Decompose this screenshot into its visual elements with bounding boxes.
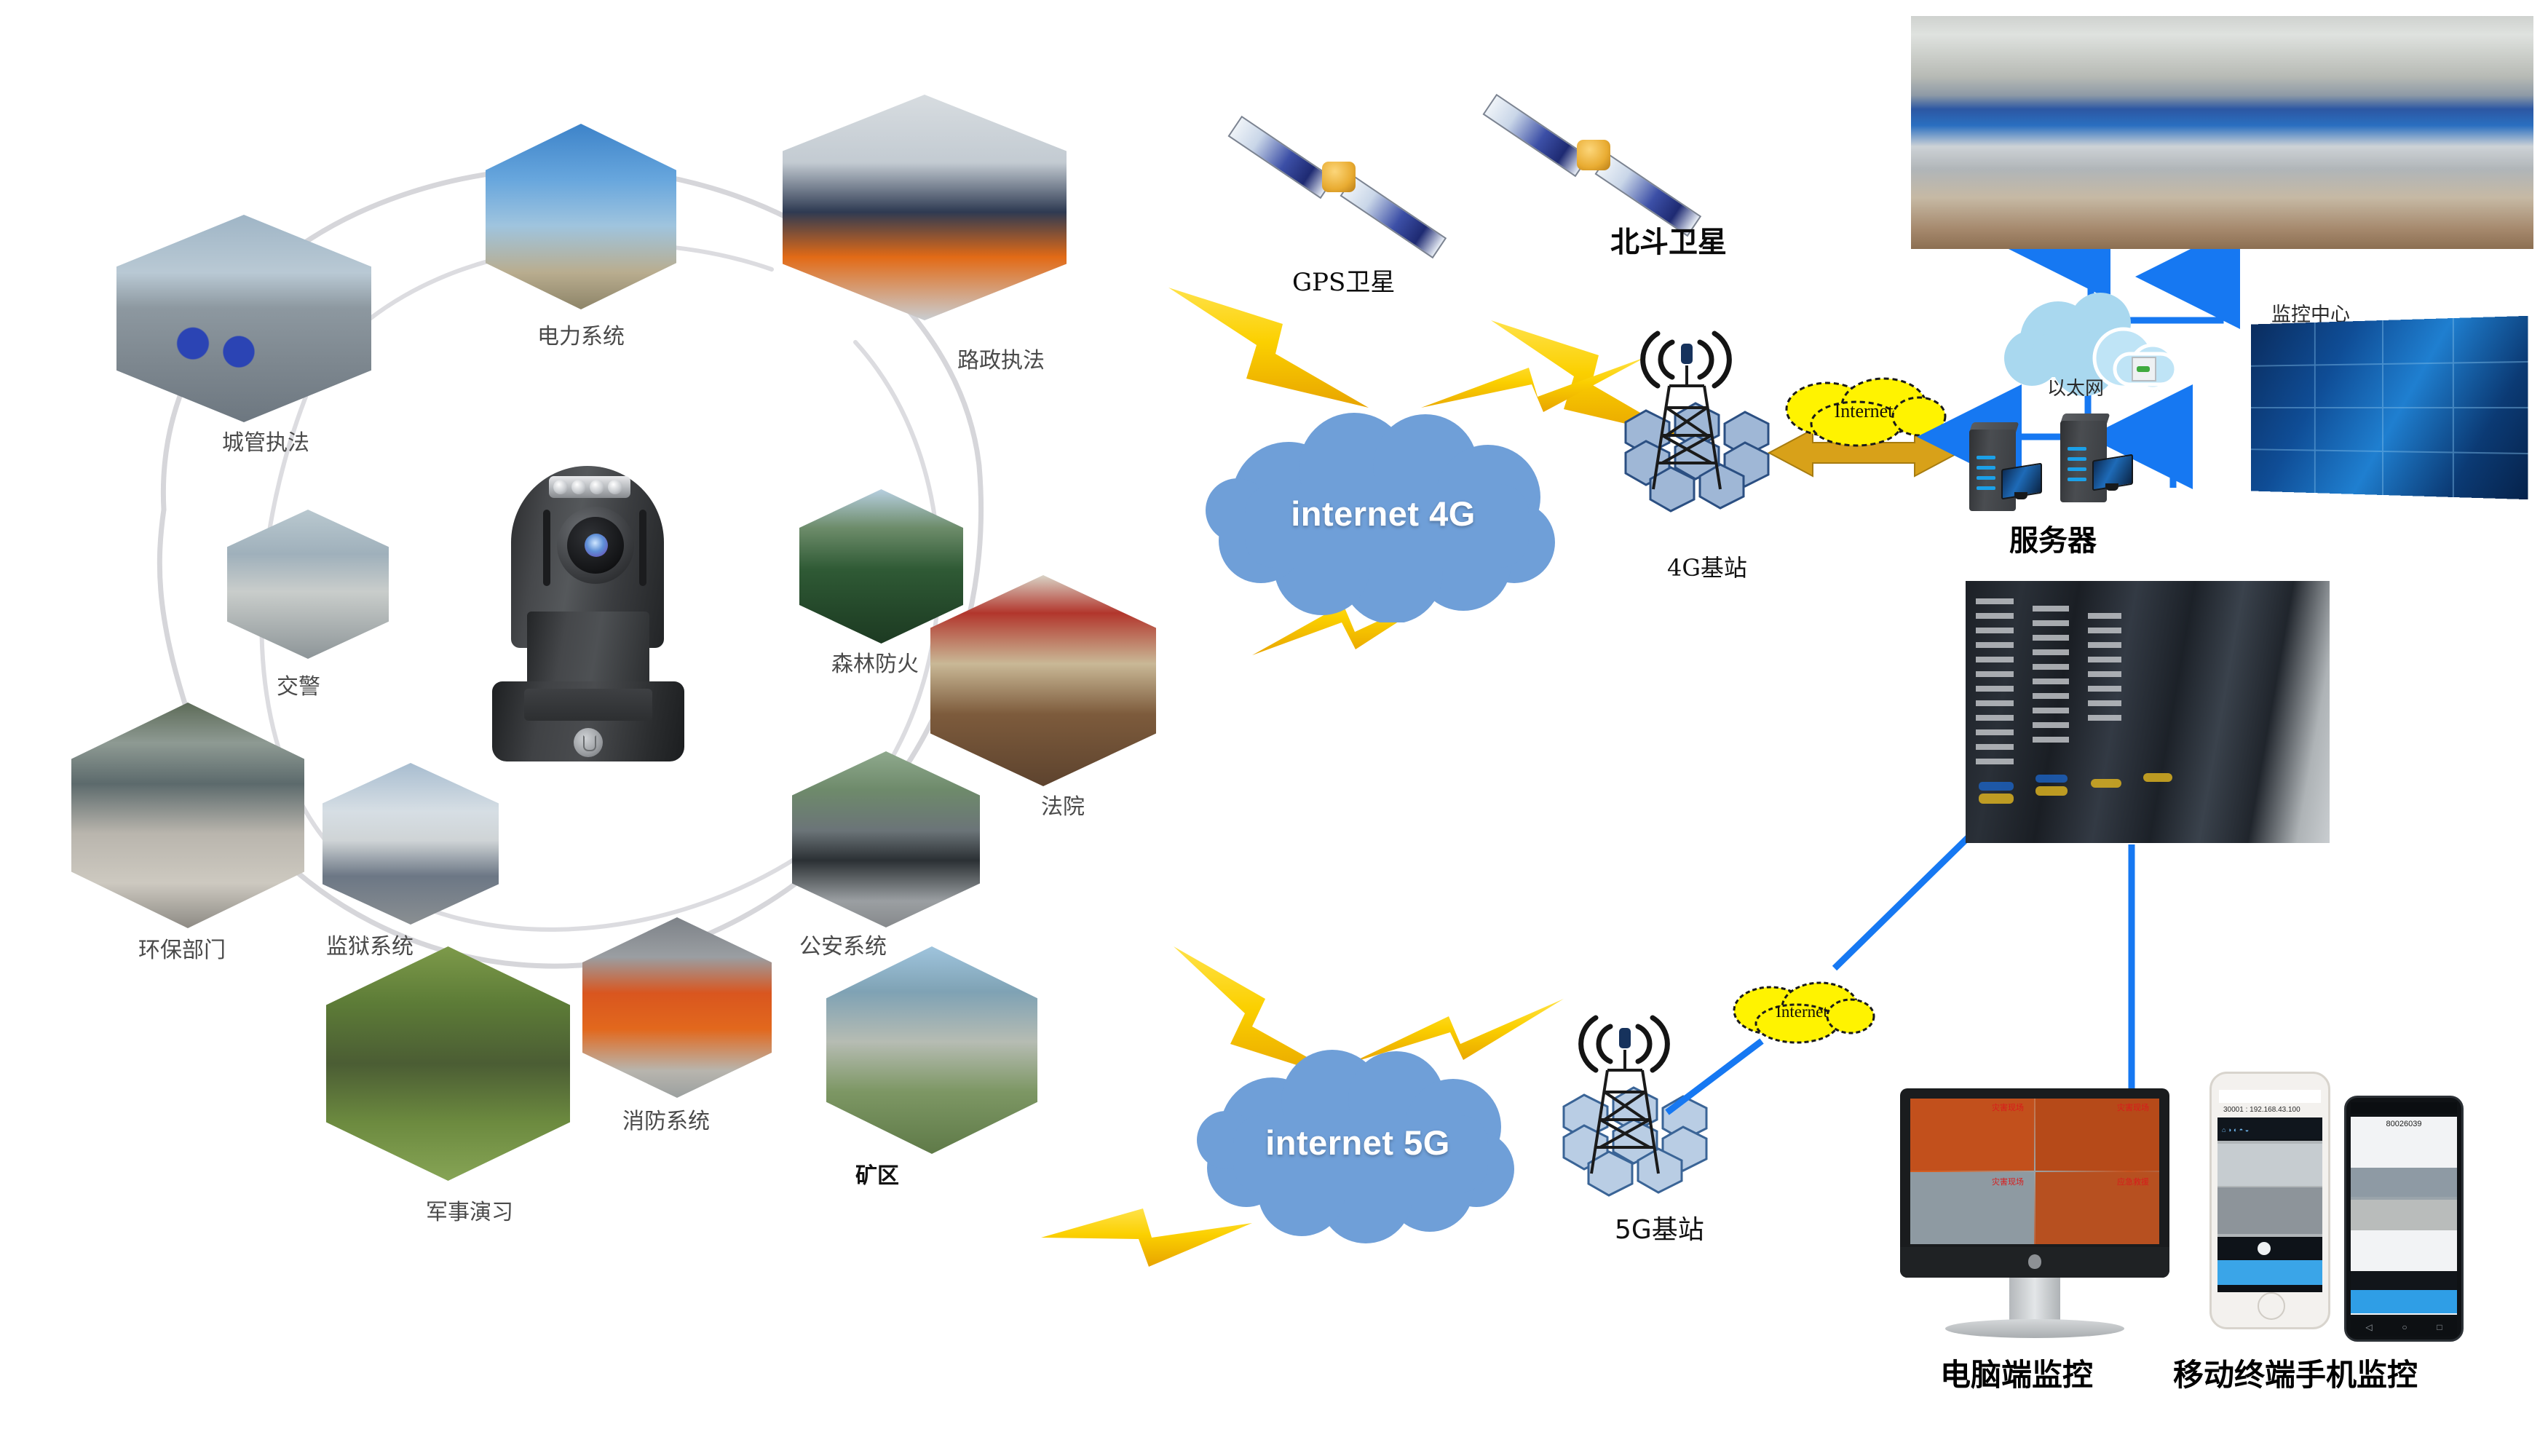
senlin-photo: [799, 489, 963, 644]
camera-lens-glow: [585, 534, 608, 557]
base-station-4g-label: 4G基站: [1667, 550, 1747, 583]
android-back-icon[interactable]: ◁: [2365, 1322, 2372, 1332]
server-2-led-4: [2068, 478, 2086, 481]
android-client[interactable]: 80026039 ◁ ○ □: [2344, 1096, 2464, 1342]
iphone-status-bar: [2219, 1090, 2321, 1103]
beidou-satellite: [1492, 80, 1696, 218]
beidou-satellite-label: 北斗卫星: [1610, 218, 1727, 261]
internet-bubble-bottom-label: Internet: [1725, 976, 1878, 1048]
server-2-monitor-stand: [2105, 483, 2118, 491]
scenario-label-jianyu: 监狱系统: [326, 928, 414, 960]
cloud-5g-label: internet 5G: [1187, 1041, 1529, 1243]
scenario-hex-jiaojing[interactable]: [227, 510, 389, 659]
server-label: 服务器: [2009, 517, 2097, 559]
scenario-label-fayuan: 法院: [1041, 788, 1085, 820]
internet-bubble-top-label: Internet: [1776, 371, 1951, 451]
scenario-hex-gongan[interactable]: [792, 751, 980, 927]
server-rack-photo: [1966, 581, 2330, 843]
pc-monitor-foot: [1945, 1319, 2124, 1338]
scenario-hex-luzheng[interactable]: [783, 95, 1067, 320]
chengguan-photo: [116, 215, 371, 422]
pc-monitor-screen: 灾害现场灾害现场 灾害现场应急救援: [1910, 1099, 2159, 1244]
iphone-home-button[interactable]: [2258, 1292, 2285, 1320]
svg-text:应急救援: 应急救援: [2117, 1176, 2149, 1187]
video-wall-photo: [2251, 316, 2528, 499]
server-1-led-1: [1977, 456, 1995, 459]
scenario-label-senlin: 森林防火: [831, 646, 919, 678]
control-room-photo: [1911, 16, 2533, 249]
pc-client-label: 电脑端监控: [1940, 1350, 2093, 1395]
switch-icon: [2132, 357, 2156, 381]
android-nav-bar[interactable]: ◁ ○ □: [2351, 1318, 2457, 1337]
scenario-label-jiaojing: 交警: [277, 668, 320, 700]
camera-notch-right: [639, 510, 646, 586]
internet-bubble-bottom[interactable]: Internet: [1725, 976, 1878, 1048]
camera-led-strip: [549, 476, 630, 498]
kuangqu-photo: [826, 946, 1037, 1154]
scenario-hex-fayuan[interactable]: [930, 575, 1156, 786]
cloud-internet-4g[interactable]: internet 4G: [1194, 404, 1572, 622]
scenario-label-xiaofang: 消防系统: [622, 1103, 710, 1135]
pc-monitor[interactable]: 灾害现场灾害现场 灾害现场应急救援: [1900, 1088, 2169, 1278]
server-1-monitor-stand: [2014, 492, 2027, 499]
junshi-photo: [326, 946, 570, 1181]
beidou-satellite-body: [1577, 140, 1610, 170]
fayuan-photo: [930, 575, 1156, 786]
server-tower-1[interactable]: [1969, 422, 2032, 513]
scenario-label-gongan: 公安系统: [799, 928, 887, 960]
camera-base-plate: [524, 689, 652, 721]
scenario-hex-kuangqu[interactable]: [826, 946, 1037, 1154]
server-2-led-1: [2068, 447, 2086, 451]
android-app-screen: 80026039: [2351, 1117, 2457, 1315]
scenario-label-chengguan: 城管执法: [222, 424, 309, 456]
server-tower-2[interactable]: [2060, 414, 2123, 504]
apple-logo-icon: [2028, 1254, 2041, 1269]
scenario-label-huanbao: 环保部门: [138, 932, 226, 964]
bolt-gps-to-4g: [1168, 288, 1369, 408]
gps-satellite: [1238, 95, 1441, 233]
camera-notch-left: [543, 510, 550, 586]
camera-lens: [567, 517, 624, 574]
svg-text:灾害现场: 灾害现场: [2117, 1102, 2149, 1112]
gps-solar-panel-left: [1227, 116, 1334, 199]
iphone-client[interactable]: 30001 : 192.168.43.100 ⌂ ◑ ◐ ◓ ◒: [2209, 1072, 2330, 1329]
scenario-label-kuangqu: 矿区: [855, 1158, 899, 1190]
scenario-hex-chengguan[interactable]: [116, 215, 371, 422]
jianyu-photo: [323, 763, 499, 925]
scenario-label-junshi: 军事演习: [426, 1194, 513, 1226]
camera-lens-housing: [557, 507, 634, 584]
mobile-client-label: 移动终端手机监控: [2173, 1350, 2418, 1395]
internet-bubble-top[interactable]: Internet: [1776, 371, 1951, 451]
scenario-hex-xiaofang[interactable]: [582, 917, 772, 1098]
mobile-ptz-camera[interactable]: [482, 466, 695, 772]
svg-text:⌂ ◑ ◐ ◓ ◒: ⌂ ◑ ◐ ◓ ◒: [2222, 1126, 2249, 1133]
iphone-nav-title: 30001 : 192.168.43.100: [2223, 1106, 2324, 1114]
svg-text:灾害现场: 灾害现场: [1992, 1176, 2024, 1187]
beidou-solar-panel-left: [1482, 94, 1589, 177]
power-button-icon[interactable]: [574, 728, 603, 757]
network-topology-diagram: 城管执法 电力系统 路政执法 交警 森林防火 法院 环保部门 监狱系统 公安系统…: [0, 0, 2548, 1456]
server-2-led-2: [2068, 457, 2086, 461]
server-1-led-4: [1977, 486, 1995, 490]
dianli-photo: [486, 124, 676, 309]
scenario-label-dianli: 电力系统: [537, 318, 625, 350]
android-home-icon[interactable]: ○: [2402, 1322, 2407, 1332]
scenario-label-luzheng: 路政执法: [957, 342, 1045, 374]
iphone-video-screen: ⌂ ◑ ◐ ◓ ◒: [2217, 1117, 2322, 1292]
base-station-5g-label: 5G基站: [1615, 1208, 1704, 1246]
scenario-hex-jianyu[interactable]: [323, 763, 499, 925]
android-status-bar: [2351, 1102, 2457, 1114]
luzheng-photo: [783, 95, 1067, 320]
gongan-photo: [792, 751, 980, 927]
pc-monitor-stand: [2009, 1278, 2060, 1323]
scenario-hex-huanbao[interactable]: [71, 703, 304, 928]
android-recents-icon[interactable]: □: [2437, 1322, 2442, 1332]
cloud-4g-label: internet 4G: [1194, 404, 1572, 622]
server-2-led-3: [2068, 467, 2086, 471]
server-1-led-3: [1977, 476, 1995, 480]
android-search-value[interactable]: 80026039: [2351, 1120, 2457, 1128]
svg-text:灾害现场: 灾害现场: [1992, 1102, 2024, 1112]
scenario-hex-dianli[interactable]: [486, 124, 676, 309]
gps-solar-panel-right: [1340, 175, 1447, 258]
gps-satellite-label: GPS卫星: [1292, 262, 1395, 298]
scenario-hex-senlin[interactable]: [799, 489, 963, 644]
jiaojing-photo: [227, 510, 389, 659]
huanbao-photo: [71, 703, 304, 928]
gps-satellite-body: [1322, 162, 1356, 192]
xiaofang-photo: [582, 917, 772, 1098]
server-1-led-2: [1977, 466, 1995, 470]
cloud-internet-5g[interactable]: internet 5G: [1187, 1041, 1529, 1243]
scenario-hex-junshi[interactable]: [326, 946, 570, 1181]
ethernet-label: 以太网: [2047, 373, 2104, 400]
